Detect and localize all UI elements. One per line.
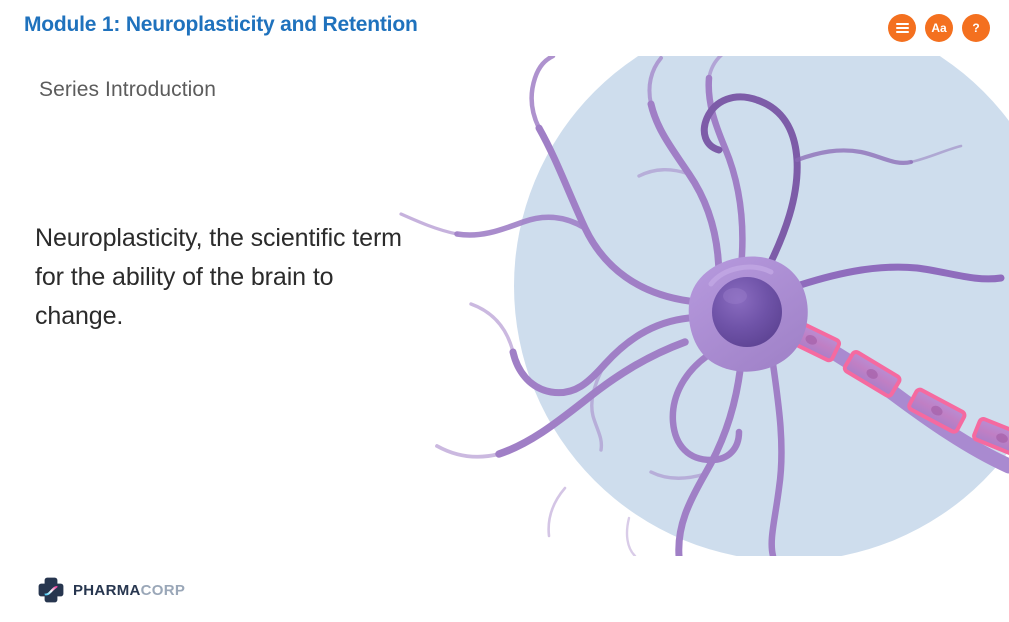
header-bar: Module 1: Neuroplasticity and Retention … — [0, 0, 1009, 56]
logo-word-light: CORP — [141, 582, 186, 599]
logo-word-bold: PHARMA — [73, 582, 141, 599]
neuron-illustration — [389, 56, 1009, 556]
page-title: Module 1: Neuroplasticity and Retention — [24, 13, 418, 37]
help-button[interactable]: ? — [962, 14, 990, 42]
menu-button[interactable] — [888, 14, 916, 42]
hamburger-icon — [896, 23, 909, 33]
logo-wordmark: PHARMACORP — [73, 582, 185, 599]
cross-logo-icon — [38, 577, 64, 603]
footer-bar: PHARMACORP 1 / 23 — [0, 556, 1009, 622]
elearning-slide-player: Module 1: Neuroplasticity and Retention … — [0, 0, 1009, 622]
font-size-icon: Aa — [931, 22, 946, 34]
slide-body-text: Neuroplasticity, the scientific term for… — [35, 219, 415, 335]
pharmacorp-logo: PHARMACORP — [38, 577, 185, 603]
question-mark-icon: ? — [972, 22, 979, 34]
slide-subtitle: Series Introduction — [39, 78, 216, 102]
font-size-button[interactable]: Aa — [925, 14, 953, 42]
slide-stage: Series Introduction Neuroplasticity, the… — [0, 56, 1009, 556]
